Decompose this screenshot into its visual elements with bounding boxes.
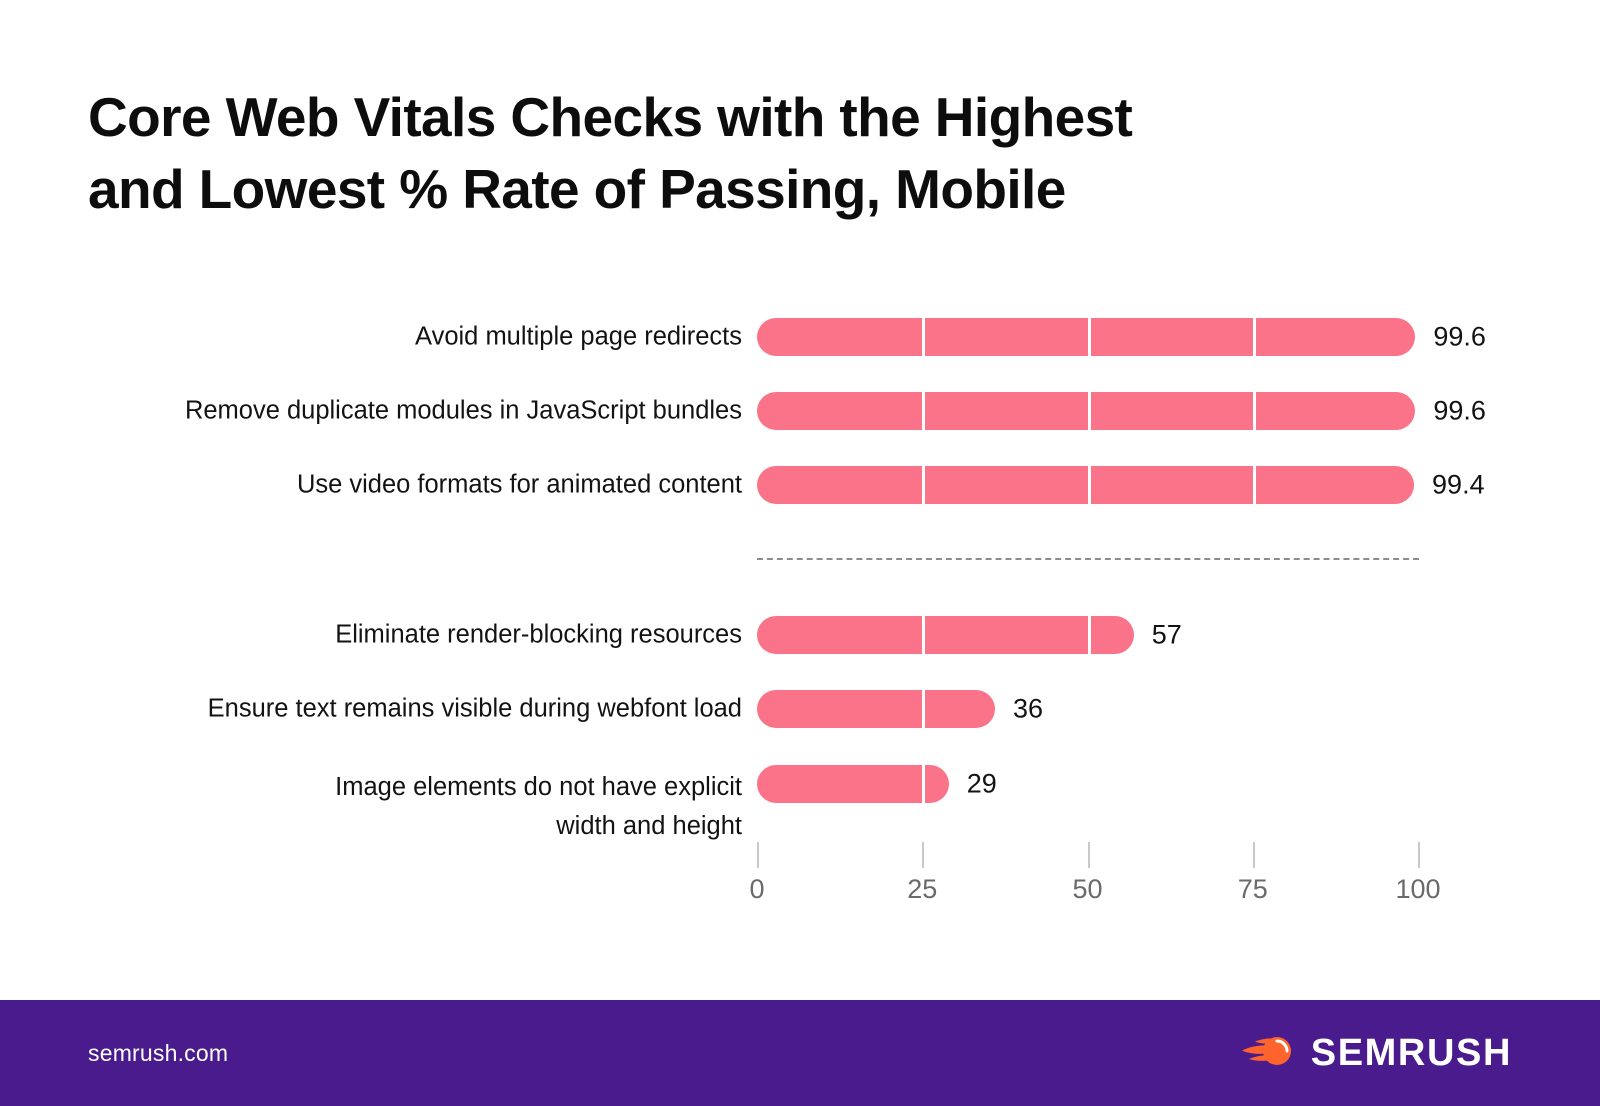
bar-gridline bbox=[1088, 616, 1091, 654]
bar-gridline bbox=[922, 765, 925, 803]
footer-website-url[interactable]: semrush.com bbox=[88, 1040, 228, 1067]
x-axis-tick-mark bbox=[757, 842, 759, 868]
bar-gridline bbox=[922, 616, 925, 654]
group-divider-dashed-line bbox=[757, 558, 1419, 560]
bar-value-label: 99.6 bbox=[1433, 322, 1486, 353]
bar[interactable] bbox=[757, 318, 1415, 356]
bar-gridline bbox=[1253, 318, 1256, 356]
bar-gridline bbox=[1088, 466, 1091, 504]
bar-track: 99.4 bbox=[757, 466, 1418, 504]
bar-value-label: 57 bbox=[1152, 620, 1182, 651]
x-axis: 0255075100 bbox=[757, 842, 1419, 922]
x-axis-tick-label: 75 bbox=[1238, 874, 1268, 905]
bar-track: 99.6 bbox=[757, 392, 1418, 430]
bar[interactable] bbox=[757, 466, 1414, 504]
bar-track: 57 bbox=[757, 616, 1418, 654]
bar-gridline bbox=[1088, 392, 1091, 430]
x-axis-tick-label: 50 bbox=[1072, 874, 1102, 905]
bar-value-label: 99.4 bbox=[1432, 470, 1485, 501]
semrush-comet-icon bbox=[1239, 1031, 1297, 1076]
bar-track: 36 bbox=[757, 690, 1418, 728]
infographic-page: Core Web Vitals Checks with the Highest … bbox=[0, 0, 1600, 1106]
bar-row: Image elements do not have explicit widt… bbox=[0, 765, 1600, 803]
bar-gridline bbox=[922, 690, 925, 728]
bar-row: Remove duplicate modules in JavaScript b… bbox=[0, 392, 1600, 430]
bar-category-label: Use video formats for animated content bbox=[42, 466, 742, 505]
bar-category-label: Avoid multiple page redirects bbox=[42, 318, 742, 357]
x-axis-tick-label: 0 bbox=[749, 874, 764, 905]
bar-gridline bbox=[1088, 318, 1091, 356]
bar-gridline bbox=[922, 392, 925, 430]
bar-row: Use video formats for animated content99… bbox=[0, 466, 1600, 504]
bar[interactable] bbox=[757, 616, 1134, 654]
bar-gridline bbox=[1253, 466, 1256, 504]
x-axis-tick-mark bbox=[1088, 842, 1090, 868]
bar-gridline bbox=[922, 466, 925, 504]
bar-category-label: Ensure text remains visible during webfo… bbox=[42, 690, 742, 729]
semrush-logo[interactable]: SEMRUSH bbox=[1239, 1031, 1512, 1076]
bar-category-label: Remove duplicate modules in JavaScript b… bbox=[42, 392, 742, 431]
bar-track: 99.6 bbox=[757, 318, 1418, 356]
x-axis-tick-label: 100 bbox=[1395, 874, 1440, 905]
bar-value-label: 29 bbox=[967, 769, 997, 800]
bar[interactable] bbox=[757, 392, 1415, 430]
bar-value-label: 99.6 bbox=[1433, 396, 1486, 427]
footer-bar: semrush.com SEMRUSH bbox=[0, 1000, 1600, 1106]
bar-category-label: Eliminate render-blocking resources bbox=[42, 616, 742, 655]
bar[interactable] bbox=[757, 690, 995, 728]
bar[interactable] bbox=[757, 765, 949, 803]
x-axis-tick-label: 25 bbox=[907, 874, 937, 905]
x-axis-tick-mark bbox=[922, 842, 924, 868]
bar-gridline bbox=[922, 318, 925, 356]
bar-track: 29 bbox=[757, 765, 1418, 803]
bar-value-label: 36 bbox=[1013, 694, 1043, 725]
x-axis-tick-mark bbox=[1253, 842, 1255, 868]
bar-category-label: Image elements do not have explicit widt… bbox=[42, 765, 742, 846]
bar-row: Ensure text remains visible during webfo… bbox=[0, 690, 1600, 728]
bar-row: Avoid multiple page redirects99.6 bbox=[0, 318, 1600, 356]
bar-row: Eliminate render-blocking resources57 bbox=[0, 616, 1600, 654]
x-axis-tick-mark bbox=[1418, 842, 1420, 868]
semrush-wordmark: SEMRUSH bbox=[1311, 1032, 1512, 1075]
bar-gridline bbox=[1253, 392, 1256, 430]
